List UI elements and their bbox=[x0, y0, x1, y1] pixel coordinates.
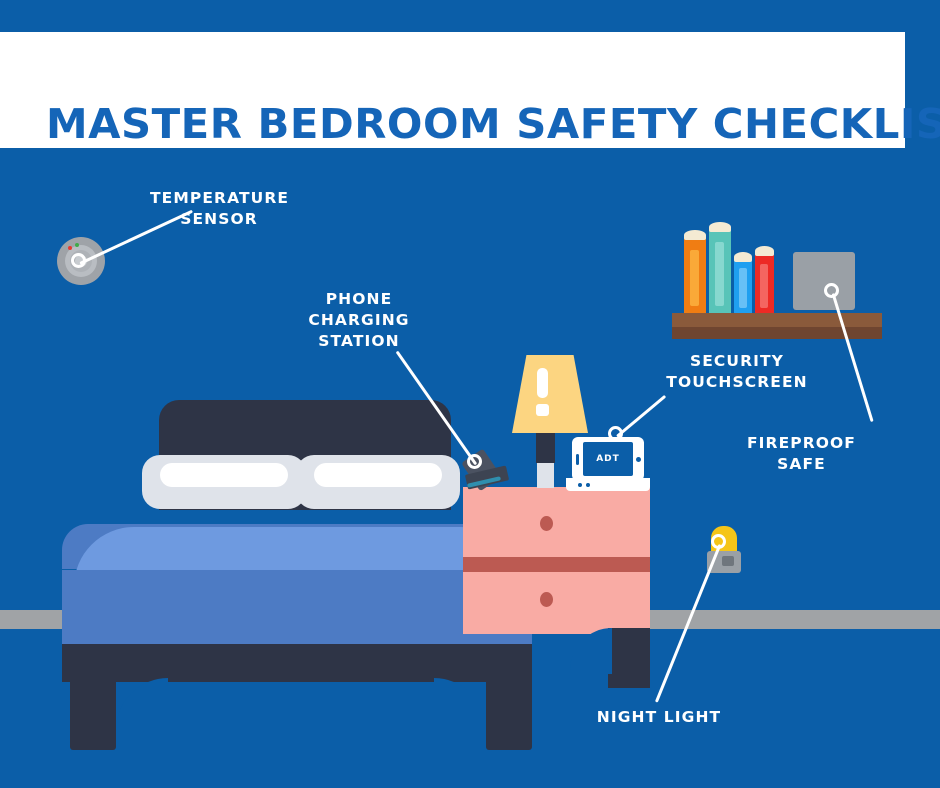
tablet-stand-dot-1 bbox=[578, 483, 582, 487]
pillow-right bbox=[296, 455, 460, 509]
leader-dot-phone-charging bbox=[467, 454, 482, 469]
tablet-stand-dot-2 bbox=[586, 483, 590, 487]
bed-leg-cutout-left bbox=[116, 678, 168, 732]
leader-dot-temperature-sensor bbox=[71, 253, 86, 268]
bed-leg-left bbox=[70, 678, 116, 750]
sensor-led-green bbox=[75, 243, 79, 247]
lamp-stem bbox=[537, 462, 554, 488]
book-teal-pages bbox=[709, 222, 731, 232]
callout-label-night-light: NIGHT LIGHT bbox=[588, 707, 730, 728]
callout-label-phone-charging-station: PHONE CHARGING STATION bbox=[296, 289, 422, 352]
infographic-canvas: MASTER BEDROOM SAFETY CHECKLIST bbox=[0, 0, 940, 788]
leader-dot-night-light bbox=[711, 534, 726, 549]
callout-label-fireproof-safe: FIREPROOF SAFE bbox=[735, 433, 868, 475]
lamp-highlight-square bbox=[536, 404, 549, 416]
callout-label-security-touchscreen: SECURITY TOUCHSCREEN bbox=[648, 351, 826, 393]
leader-line-security-touchscreen bbox=[616, 395, 666, 438]
nightstand-leg-cutout bbox=[570, 628, 612, 674]
page-title: MASTER BEDROOM SAFETY CHECKLIST bbox=[46, 100, 940, 148]
book-lightblue-pages bbox=[734, 252, 752, 262]
leader-dot-fireproof-safe bbox=[824, 283, 839, 298]
wall-outlet-slot bbox=[722, 556, 734, 566]
lamp-shade bbox=[512, 355, 588, 433]
pillow-left-inner bbox=[160, 463, 288, 487]
nightstand-knob-bottom[interactable] bbox=[540, 592, 553, 607]
safe-icon bbox=[793, 252, 855, 310]
tablet-side-button[interactable] bbox=[576, 454, 579, 465]
book-orange-spine bbox=[690, 250, 699, 306]
bed-leg-right bbox=[486, 678, 532, 750]
pillow-left bbox=[142, 455, 306, 509]
wall-shelf-edge bbox=[672, 327, 882, 339]
tablet-brand-label: ADT bbox=[583, 442, 633, 476]
nightstand-knob-top[interactable] bbox=[540, 516, 553, 531]
bed-frame bbox=[62, 644, 532, 682]
lamp-highlight-bar bbox=[537, 368, 548, 398]
book-orange-pages bbox=[684, 230, 706, 240]
book-teal-spine bbox=[715, 242, 724, 306]
leader-dot-security-touchscreen bbox=[608, 426, 623, 441]
book-red-spine bbox=[760, 264, 768, 308]
nightstand-drawer-divider bbox=[463, 557, 650, 572]
pillow-right-inner bbox=[314, 463, 442, 487]
tablet-camera-dot bbox=[636, 457, 641, 462]
sensor-led-red bbox=[68, 246, 72, 250]
nightstand-leg bbox=[608, 628, 650, 688]
book-lightblue-spine bbox=[739, 268, 747, 308]
bed-leg-cutout-right bbox=[434, 678, 486, 732]
book-red-pages bbox=[755, 246, 774, 256]
header-banner: MASTER BEDROOM SAFETY CHECKLIST bbox=[0, 32, 905, 148]
lamp-neck bbox=[536, 433, 555, 463]
callout-label-temperature-sensor: TEMPERATURE SENSOR bbox=[150, 188, 288, 230]
blanket-body bbox=[62, 570, 532, 644]
